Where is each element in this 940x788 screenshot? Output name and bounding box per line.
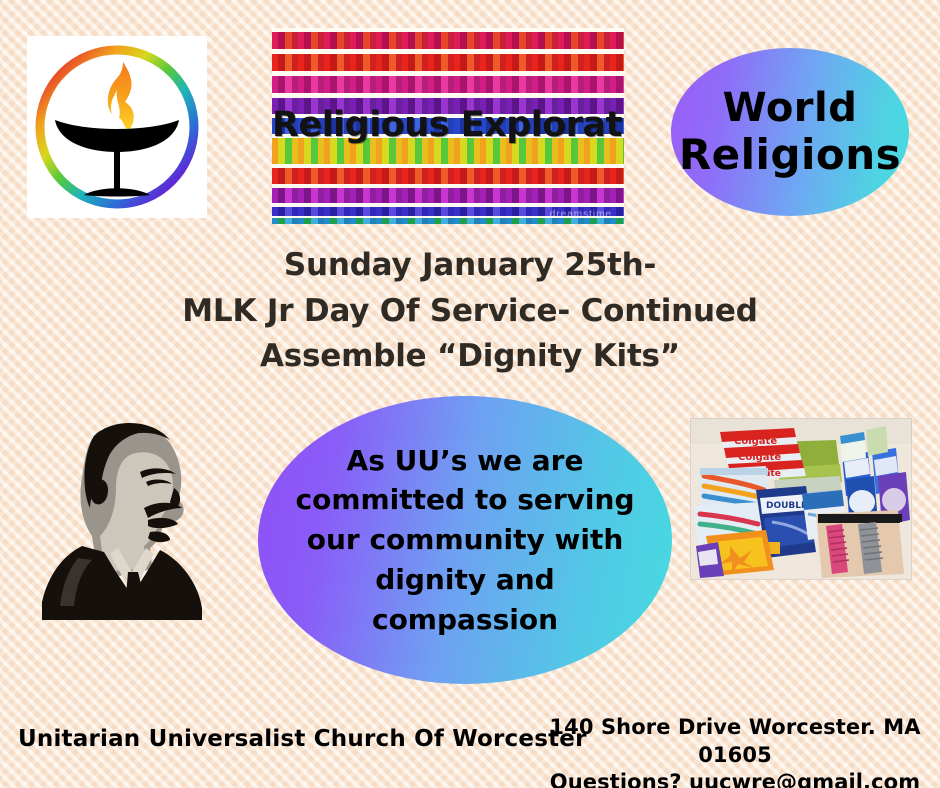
footer-email: Questions? uucwre@gmail.com [540, 769, 930, 788]
world-religions-badge: World Religions [671, 48, 909, 216]
world-religions-line-2: Religions [679, 134, 901, 176]
title-line-1: Sunday January 25th- [0, 243, 940, 289]
svg-text:Colgate: Colgate [734, 436, 777, 447]
quote-line-1: As UU’s we are [347, 441, 584, 481]
poster-canvas: Religious Exploration dreamstime World R… [0, 0, 940, 788]
title-line-3: Assemble “Dignity Kits” [0, 334, 940, 380]
title-line-2: MLK Jr Day Of Service- Continued [0, 289, 940, 335]
religious-exploration-banner: Religious Exploration dreamstime [272, 28, 624, 224]
mlk-portrait-image [12, 396, 232, 626]
dignity-kit-photo: Colgate Colgate Colgate [690, 418, 912, 580]
quote-line-5: compassion [372, 600, 558, 640]
banner-title: Religious Exploration [272, 105, 624, 145]
svg-text:DOUBLE: DOUBLE [766, 501, 807, 511]
quote-line-3: our community with [307, 520, 624, 560]
quote-line-2: committed to serving [296, 480, 635, 520]
banner-watermark: dreamstime [550, 209, 612, 220]
page-title: Sunday January 25th- MLK Jr Day Of Servi… [0, 243, 940, 380]
world-religions-line-1: World [723, 88, 858, 128]
footer-church-name: Unitarian Universalist Church Of Worcest… [18, 726, 587, 752]
mission-quote-ellipse: As UU’s we are committed to serving our … [258, 396, 672, 684]
banner-title-wrap: Religious Exploration [272, 105, 624, 145]
footer-contact-block: 140 Shore Drive Worcester. MA 01605 Ques… [540, 714, 930, 788]
svg-text:Colgate: Colgate [738, 452, 781, 463]
quote-line-4: dignity and [375, 560, 554, 600]
uu-chalice-logo [27, 36, 207, 218]
footer-address: 140 Shore Drive Worcester. MA 01605 [540, 714, 930, 769]
